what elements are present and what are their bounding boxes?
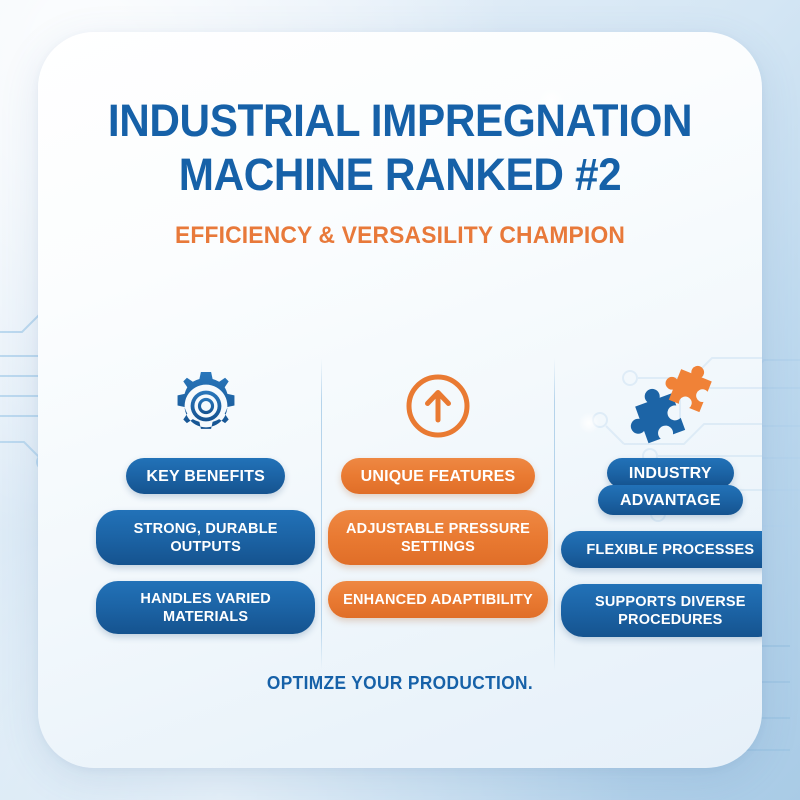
badge-stack: INDUSTRY ADVANTAGE FLEXIBLE PROCESSES SU… xyxy=(561,458,762,637)
page-title: INDUSTRIAL IMPREGNATION MACHINE RANKED #… xyxy=(92,94,709,202)
feature-columns: KEY BENEFITS STRONG, DURABLE OUTPUTS HAN… xyxy=(90,354,762,674)
page-title-line-1: INDUSTRIAL IMPREGNATION xyxy=(92,94,709,148)
footer-tagline: OPTIMZE YOUR PRODUCTION. xyxy=(52,673,747,694)
feature-badge: HANDLES VARIED MATERIALS xyxy=(96,581,315,634)
arrow-up-circle-icon xyxy=(404,354,472,458)
badge-stack: UNIQUE FEATURES ADJUSTABLE PRESSURE SETT… xyxy=(328,458,547,618)
feature-badge: ENHANCED ADAPTIBILITY xyxy=(328,581,547,618)
header: INDUSTRIAL IMPREGNATION MACHINE RANKED #… xyxy=(38,94,762,250)
column-heading-line-2: ADVANTAGE xyxy=(598,485,743,515)
gear-icon xyxy=(170,354,242,458)
column-unique-features: UNIQUE FEATURES ADJUSTABLE PRESSURE SETT… xyxy=(322,354,553,674)
feature-badge: ADJUSTABLE PRESSURE SETTINGS xyxy=(328,510,547,565)
content-card: INDUSTRIAL IMPREGNATION MACHINE RANKED #… xyxy=(38,32,762,768)
page-title-line-2: MACHINE RANKED #2 xyxy=(92,148,709,202)
infographic-poster: INDUSTRIAL IMPREGNATION MACHINE RANKED #… xyxy=(0,0,800,800)
feature-badge: STRONG, DURABLE OUTPUTS xyxy=(96,510,315,565)
column-heading-badge: INDUSTRY ADVANTAGE xyxy=(598,458,743,515)
column-heading-badge: UNIQUE FEATURES xyxy=(341,458,536,494)
column-industry-advantage: INDUSTRY ADVANTAGE FLEXIBLE PROCESSES SU… xyxy=(555,354,762,674)
column-heading-line-1: INDUSTRY xyxy=(607,458,734,488)
column-heading-badge: KEY BENEFITS xyxy=(126,458,285,494)
badge-stack: KEY BENEFITS STRONG, DURABLE OUTPUTS HAN… xyxy=(96,458,315,634)
page-subtitle: EFFICIENCY & VERSASILITY CHAMPION xyxy=(56,222,744,250)
feature-badge: SUPPORTS DIVERSE PROCEDURES xyxy=(561,584,762,637)
feature-badge: FLEXIBLE PROCESSES xyxy=(561,531,762,568)
puzzle-pieces-icon xyxy=(622,354,718,458)
column-key-benefits: KEY BENEFITS STRONG, DURABLE OUTPUTS HAN… xyxy=(90,354,321,674)
